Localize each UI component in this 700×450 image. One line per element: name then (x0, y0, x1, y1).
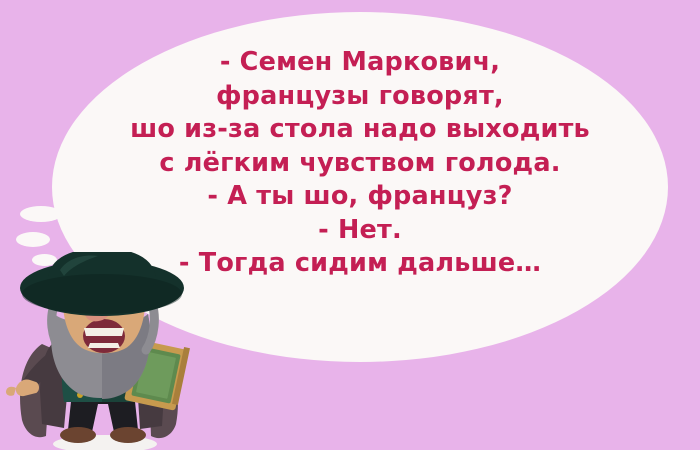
shoe-right (110, 427, 146, 443)
speech-line-3: шо из-за стола надо выходить (52, 113, 668, 147)
hat-brim-shade (22, 274, 182, 314)
speech-line-6: - Нет. (52, 214, 668, 248)
thought-dot-large (20, 206, 62, 222)
thought-dot-medium (16, 232, 50, 247)
shoe-left (60, 427, 96, 443)
speech-line-2: французы говорят, (52, 80, 668, 114)
lower-teeth (88, 343, 120, 348)
speech-line-5: - А ты шо, француз? (52, 180, 668, 214)
speech-line-4: с лёгким чувством голода. (52, 147, 668, 181)
meme-canvas: - Семен Маркович, французы говорят, шо и… (0, 0, 700, 450)
speech-line-1: - Семен Маркович, (52, 46, 668, 80)
character-illustration (2, 252, 202, 450)
upper-teeth (84, 328, 124, 336)
speech-bubble-text: - Семен Маркович, французы говорят, шо и… (52, 46, 668, 281)
